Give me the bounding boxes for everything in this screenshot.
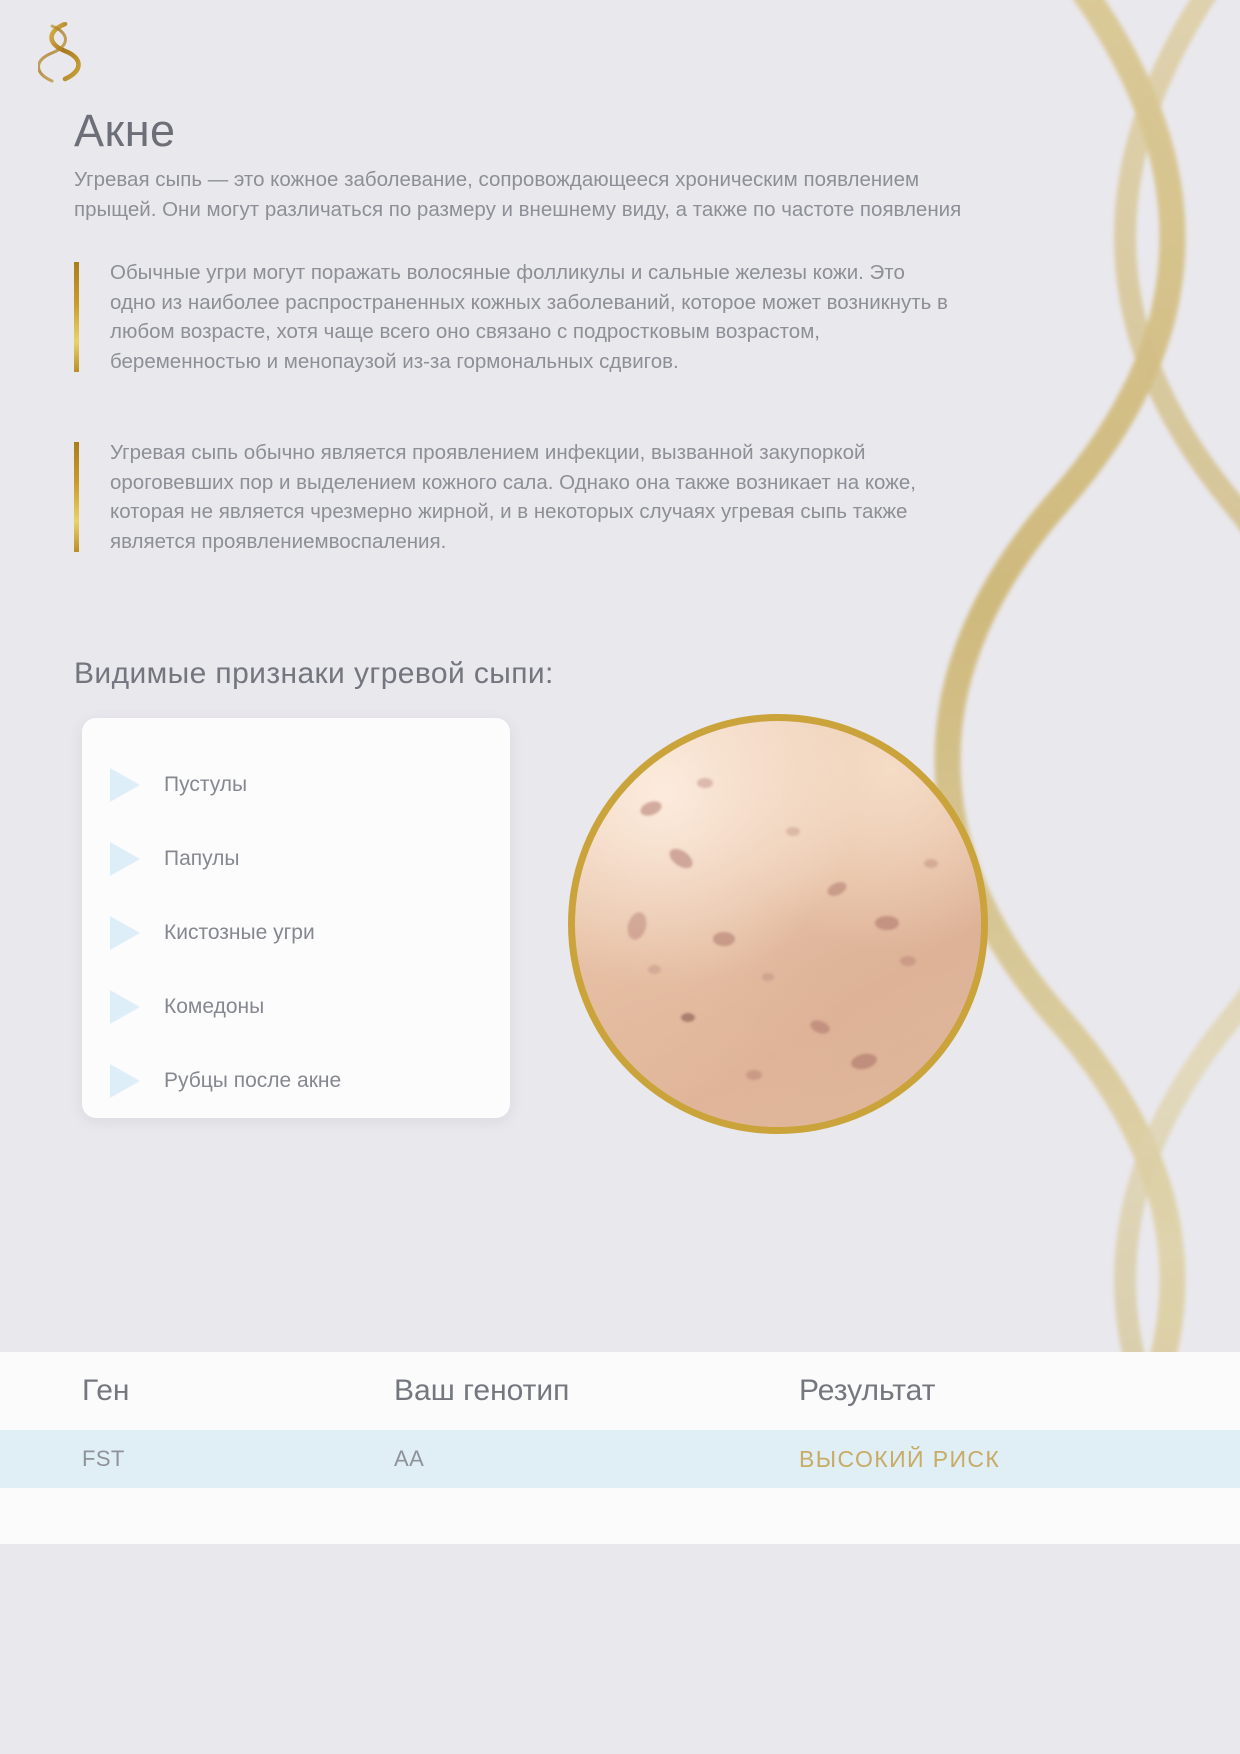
report-page: Акне Угревая сыпь — это кожное заболеван… [0, 0, 1240, 1754]
triangle-right-icon [110, 1064, 140, 1098]
list-item: Рубцы после акне [82, 1044, 510, 1118]
list-item: Комедоны [82, 970, 510, 1044]
symptoms-card: Пустулы Папулы Кистозные угри Комедоны Р… [82, 718, 510, 1118]
list-item: Пустулы [82, 748, 510, 822]
table-bottom-spacer [0, 1488, 1240, 1544]
intro-paragraph: Угревая сыпь — это кожное заболевание, с… [74, 165, 964, 225]
list-item-label: Пустулы [164, 773, 247, 797]
column-header-result: Результат [799, 1374, 1240, 1408]
dna-helix-icon [38, 22, 82, 84]
symptoms-heading: Видимые признаки угревой сыпи: [74, 657, 554, 691]
highlight-block-1-text: Обычные угри могут поражать волосяные фо… [110, 261, 948, 373]
result-table: Ген Ваш генотип Результат FST AA ВЫСОКИЙ… [0, 1352, 1240, 1544]
list-item-label: Рубцы после акне [164, 1069, 341, 1093]
triangle-right-icon [110, 916, 140, 950]
triangle-right-icon [110, 990, 140, 1024]
acne-skin-photo [568, 714, 988, 1134]
column-header-gene: Ген [82, 1374, 394, 1408]
highlight-block-1: Обычные угри могут поражать волосяные фо… [74, 258, 954, 376]
table-row: FST AA ВЫСОКИЙ РИСК [0, 1430, 1240, 1488]
list-item-label: Комедоны [164, 995, 264, 1019]
cell-genotype: AA [394, 1446, 799, 1472]
list-item-label: Кистозные угри [164, 921, 315, 945]
triangle-right-icon [110, 842, 140, 876]
page-title: Акне [74, 105, 176, 157]
skin-texture [575, 721, 981, 1127]
status-badge: ВЫСОКИЙ РИСК [799, 1446, 1240, 1473]
table-header-row: Ген Ваш генотип Результат [0, 1352, 1240, 1430]
highlight-block-2: Угревая сыпь обычно является проявлением… [74, 438, 954, 556]
column-header-genotype: Ваш генотип [394, 1374, 799, 1408]
triangle-right-icon [110, 768, 140, 802]
highlight-block-2-text: Угревая сыпь обычно является проявлением… [110, 441, 916, 553]
list-item: Кистозные угри [82, 896, 510, 970]
list-item: Папулы [82, 822, 510, 896]
list-item-label: Папулы [164, 847, 240, 871]
cell-gene: FST [82, 1446, 394, 1472]
